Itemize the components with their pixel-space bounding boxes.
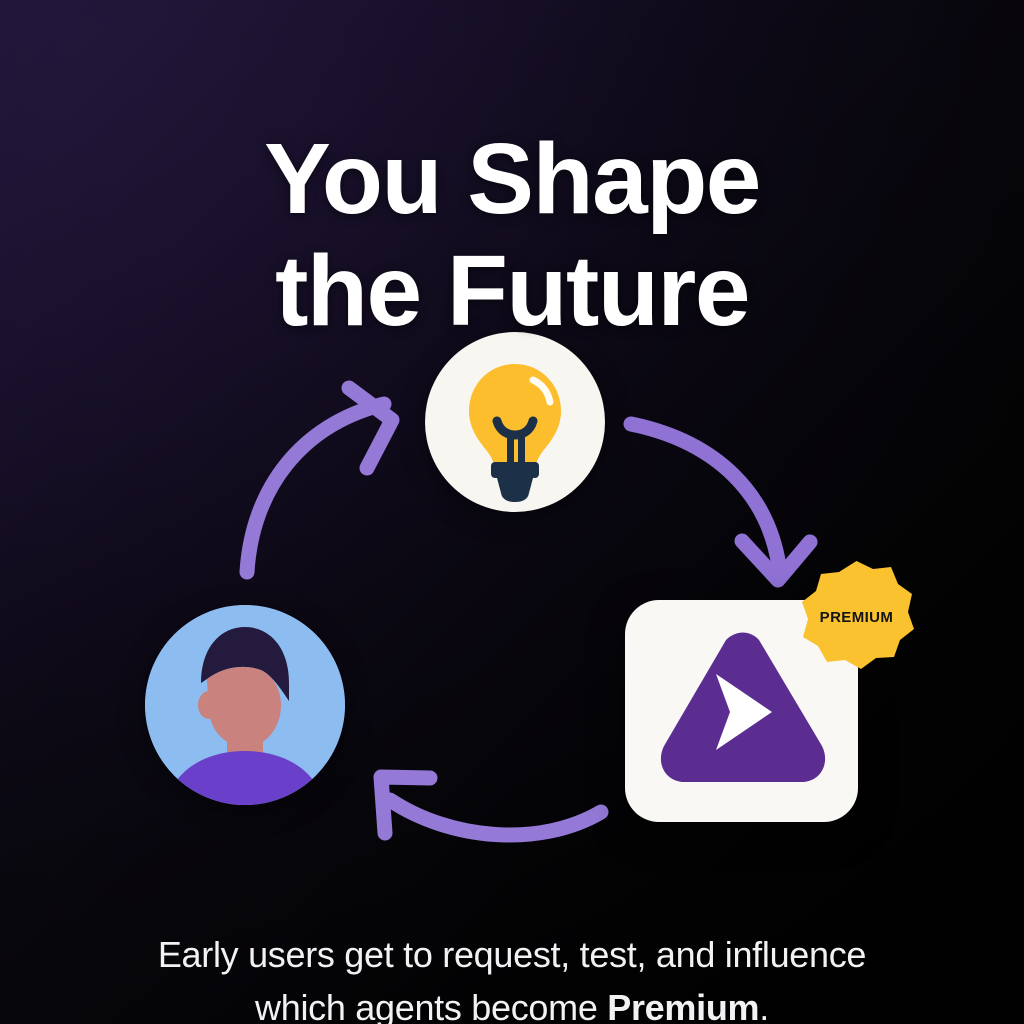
user-node[interactable] xyxy=(145,605,345,805)
arrow-user-to-idea xyxy=(247,388,392,572)
caption: Early users get to request, test, and in… xyxy=(0,928,1024,1024)
page-title-line-2: the Future xyxy=(0,235,1024,347)
page-title-line-1: You Shape xyxy=(264,123,760,235)
caption-line-1: Early users get to request, test, and in… xyxy=(158,934,866,975)
page-title: You Shape the Future xyxy=(0,123,1024,347)
caption-line-2-prefix: which agents become xyxy=(255,987,607,1024)
premium-badge-label: PREMIUM xyxy=(799,561,914,673)
user-avatar-icon xyxy=(145,605,345,805)
caption-premium-word: Premium xyxy=(607,987,759,1024)
lightbulb-icon xyxy=(425,332,605,512)
premium-badge[interactable]: PREMIUM xyxy=(799,561,914,673)
arrow-idea-to-product xyxy=(631,424,810,580)
arrow-product-to-user xyxy=(381,777,601,835)
promo-graphic: You Shape the Future xyxy=(0,0,1024,1024)
idea-node[interactable] xyxy=(425,332,605,512)
caption-line-2-suffix: . xyxy=(759,987,769,1024)
